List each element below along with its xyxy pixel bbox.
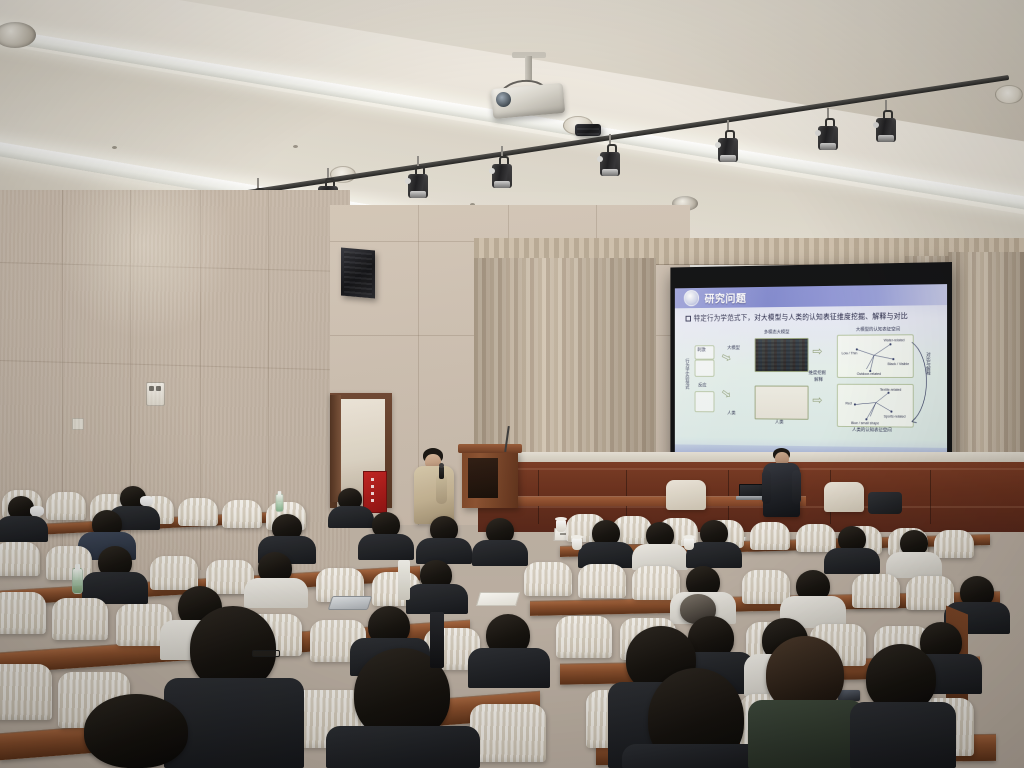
diagram-human-caption: 人类 [775,420,784,426]
diagram-model-caption: 多模态大模型 [764,329,790,335]
diagram-stimulus-label: 刺激 [697,347,705,353]
seat [578,564,626,598]
diagram-tree-bottom: Textile-related Red Sports-related Blue … [837,384,914,428]
seat [150,556,198,590]
bullet-square-icon [686,316,691,322]
svg-text:Sports-related: Sports-related [884,414,906,418]
seat [46,546,92,580]
seat [556,616,612,658]
handheld-microphone [439,466,444,479]
svg-text:Water-related: Water-related [884,338,905,342]
seat [46,492,86,520]
slide-title: 研究问题 [704,290,746,306]
lecture-hall-photo: 研究问题 特定行为学范式下，对大模型与人类的认知表征维度挖掘、解释与对比 行为学… [0,0,1024,768]
seat [524,562,572,596]
water-bottle [72,568,83,594]
ceiling-projector [492,78,564,122]
seat [742,570,790,604]
ceiling-speaker-3 [995,85,1023,104]
diagram-tree-bottom-caption: 人类的认知表征空间 [852,427,892,433]
slide-bullet-line: 特定行为学范式下，对大模型与人类的认知表征维度挖掘、解释与对比 [686,312,936,323]
face-mask [30,506,44,516]
face-mask [140,496,153,506]
seat [52,598,108,640]
seat [0,542,40,576]
diagram-human-thumbnail [755,386,809,420]
presenter-with-microphone [412,448,458,526]
stage-light-5 [600,144,620,178]
seat [470,704,546,762]
side-door[interactable] [330,393,392,508]
paper-handout [476,592,520,606]
university-emblem-icon [684,290,699,306]
svg-text:Red: Red [845,401,851,405]
stage-chair-1 [666,480,706,510]
stage-light-4 [492,156,512,190]
seat [0,592,46,634]
stage-light-6 [718,130,738,164]
water-bottle [276,494,284,512]
ceiling-speaker-box [575,124,601,136]
seat [750,522,790,550]
slide-bullet-text: 特定行为学范式下，对大模型与人类的认知表征维度挖掘、解释与对比 [694,311,908,322]
audience-laptop[interactable] [328,596,373,610]
svg-text:Low / Thin: Low / Thin [842,351,858,355]
diagram-mid-label-top: 维度挖掘 [809,370,826,376]
diagram-tree-top: Water-related Black / Visible Low / Thin… [837,334,914,378]
seat [0,664,52,720]
stage-light-8 [876,110,896,144]
diagram-branch-bottom-label: 人类 [727,410,735,416]
seat [852,574,900,608]
slide-diagram: 行为学实验范式 刺激 反应 ⇨ ⇨ 大模型 人类 多模态大模型 人类 ⇨ ⇨ [675,326,947,456]
diagram-tree-top-caption: 大模型的认知表征空间 [856,326,900,332]
stage-light-3 [408,166,428,200]
ceiling-fitting-dot-2 [112,146,117,149]
door-leaf[interactable] [330,395,341,502]
svg-text:Black / Visible: Black / Visible [888,362,910,366]
eyeglasses [252,650,280,657]
stage-light-7 [818,118,838,152]
wall-speaker-left [341,248,375,299]
svg-text:Outdoor-related: Outdoor-related [857,372,881,376]
ceiling-fitting-dot-1 [293,145,298,148]
thermos-tumbler-white [398,560,410,600]
svg-text:Blue / small shape: Blue / small shape [851,421,879,425]
diagram-branch-top-label: 大模型 [727,345,740,351]
diagram-right-label: 对比与解释 [925,352,931,375]
paper-cup [684,538,694,550]
seat [178,498,218,526]
stage-chair-2 [824,482,864,512]
seat [222,500,262,528]
presenter-on-stage [762,448,802,518]
svg-text:Textile-related: Textile-related [880,388,902,392]
thermos-tumbler [430,612,444,668]
stage-bag [868,492,902,514]
wall-outlet-plate [72,418,84,430]
diagram-input-label: 行为学实验范式 [685,359,690,390]
diagram-mid-label-bottom: 解释 [814,377,823,383]
paper-cup [556,520,566,532]
seat [632,566,680,600]
diagram-model-thumbnail [755,338,809,372]
seat [934,530,974,558]
seat [796,524,836,552]
projected-slide: 研究问题 特定行为学范式下，对大模型与人类的认知表征维度挖掘、解释与对比 行为学… [675,284,947,474]
diagram-response-label: 反应 [698,383,706,389]
lectern [462,450,518,508]
slide-title-bar: 研究问题 [675,284,947,308]
projection-screen: 研究问题 特定行为学范式下，对大模型与人类的认知表征维度挖掘、解释与对比 行为学… [670,262,952,484]
wall-control-panel[interactable] [146,382,165,406]
paper-cup [572,538,582,550]
